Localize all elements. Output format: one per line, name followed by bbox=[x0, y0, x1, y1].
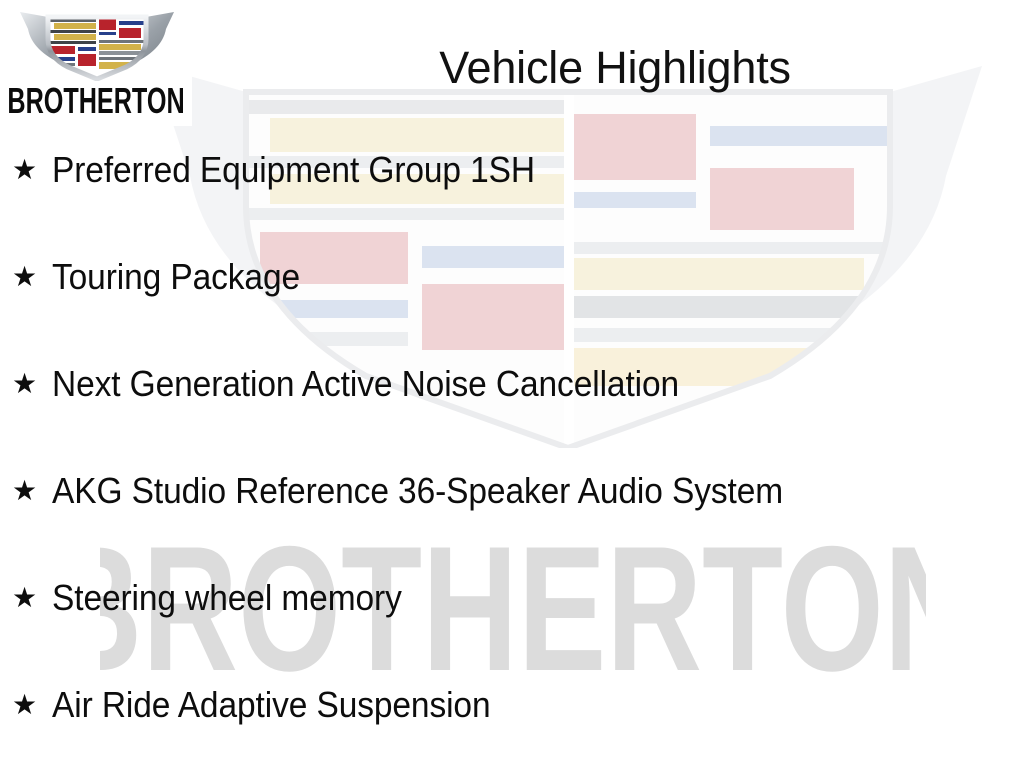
list-item: ★ Touring Package bbox=[0, 255, 1024, 362]
highlight-label: Steering wheel memory bbox=[52, 576, 402, 620]
vehicle-highlights-slide: BROTHERTON bbox=[0, 0, 1024, 768]
star-bullet-icon: ★ bbox=[12, 469, 42, 513]
highlight-label: Touring Package bbox=[52, 255, 300, 299]
highlight-label: Preferred Equipment Group 1SH bbox=[52, 148, 535, 192]
cadillac-crest-icon bbox=[18, 7, 176, 81]
highlight-label: Next Generation Active Noise Cancellatio… bbox=[52, 362, 679, 406]
list-item: ★ Next Generation Active Noise Cancellat… bbox=[0, 362, 1024, 469]
list-item: ★ Air Ride Adaptive Suspension bbox=[0, 683, 1024, 768]
highlight-label: Air Ride Adaptive Suspension bbox=[52, 683, 490, 727]
star-bullet-icon: ★ bbox=[12, 683, 42, 727]
dealer-logo: BROTHERTON bbox=[0, 0, 192, 126]
star-bullet-icon: ★ bbox=[12, 576, 42, 620]
star-bullet-icon: ★ bbox=[12, 255, 42, 299]
page-title: Vehicle Highlights bbox=[300, 40, 930, 96]
star-bullet-icon: ★ bbox=[12, 362, 42, 406]
list-item: ★ Steering wheel memory bbox=[0, 576, 1024, 683]
list-item: ★ Preferred Equipment Group 1SH bbox=[0, 148, 1024, 255]
dealer-wordmark: BROTHERTON bbox=[0, 82, 192, 120]
vehicle-highlights-list: ★ Preferred Equipment Group 1SH ★ Tourin… bbox=[0, 148, 1024, 768]
star-bullet-icon: ★ bbox=[12, 148, 42, 192]
list-item: ★ AKG Studio Reference 36-Speaker Audio … bbox=[0, 469, 1024, 576]
dealer-wordmark-text: BROTHERTON bbox=[7, 82, 184, 120]
highlight-label: AKG Studio Reference 36-Speaker Audio Sy… bbox=[52, 469, 783, 513]
